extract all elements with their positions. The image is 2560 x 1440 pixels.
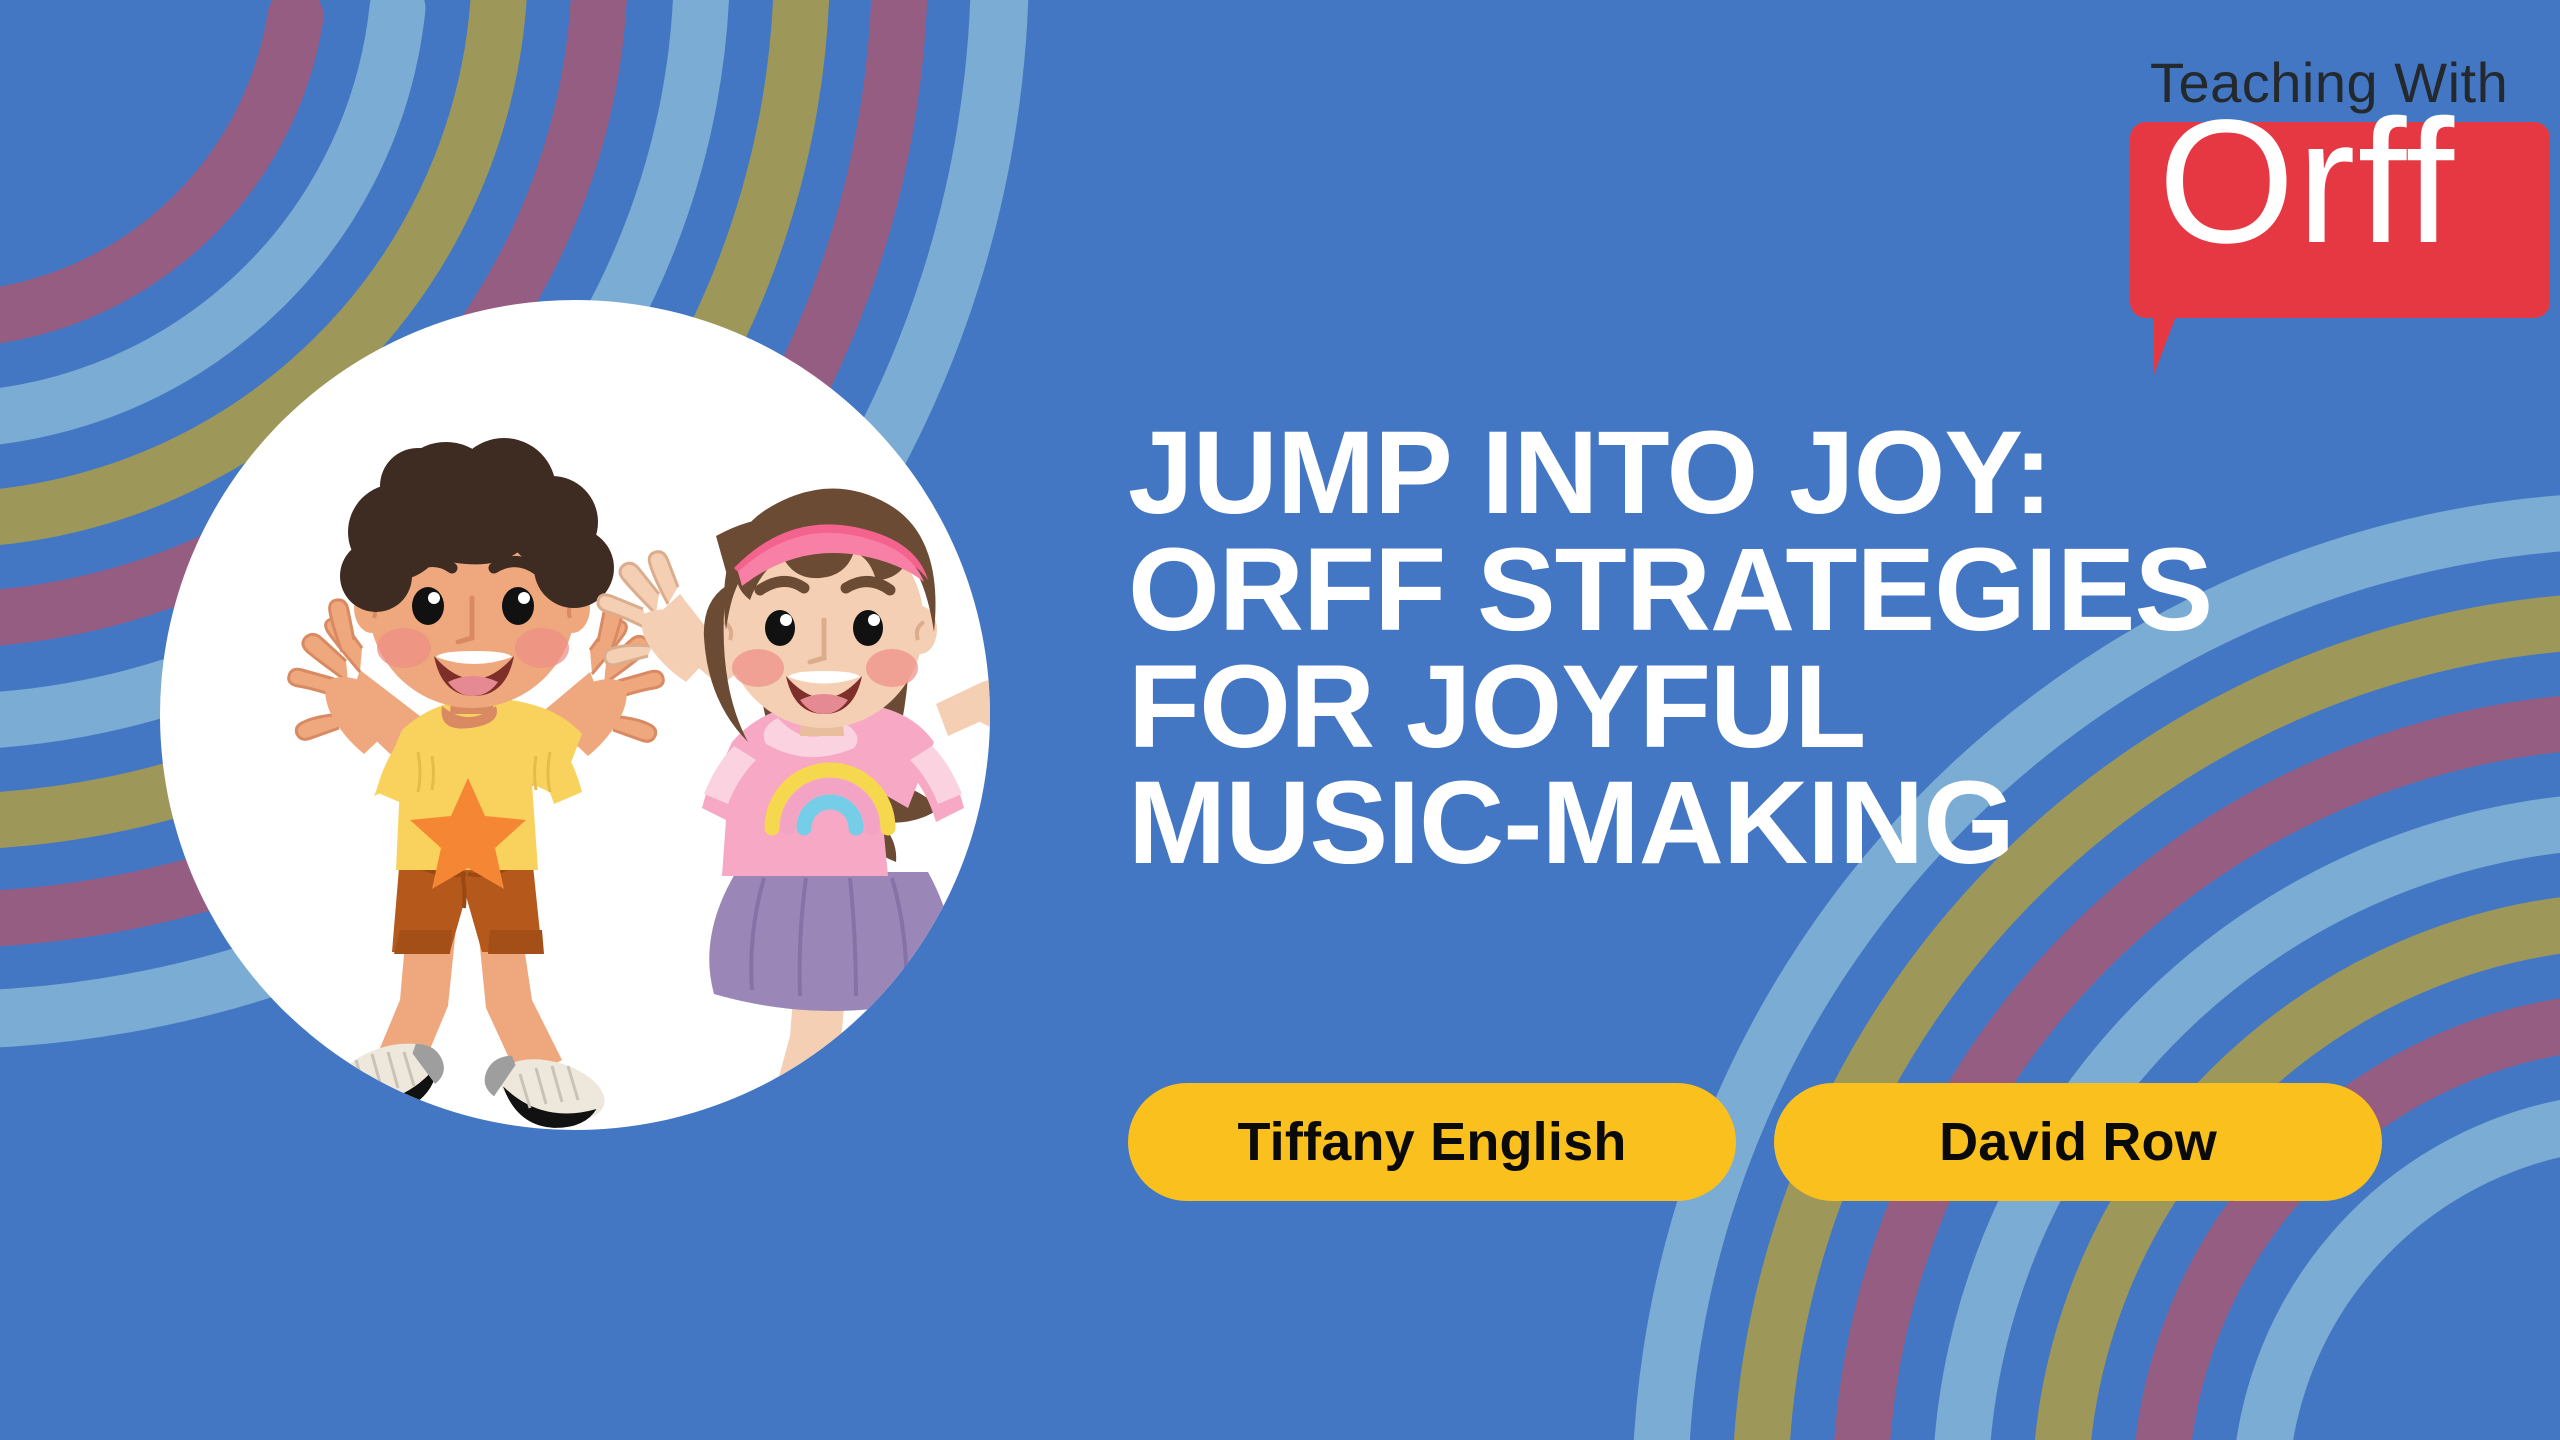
kids-illustration: [160, 300, 990, 1130]
girl-shoe-left: [753, 1089, 844, 1130]
speaker-pill-1[interactable]: Tiffany English: [1128, 1083, 1736, 1201]
page-title: JUMP INTO JOY: ORFF STRATEGIES FOR JOYFU…: [1128, 415, 2468, 882]
speaker-name-1: Tiffany English: [1237, 1111, 1626, 1173]
title-line-4: MUSIC-MAKING: [1128, 765, 2468, 882]
speaker-list: Tiffany English David Row: [1128, 1083, 2382, 1201]
speaker-name-2: David Row: [1939, 1111, 2217, 1173]
boy-figure: [289, 438, 664, 1130]
girl-figure: [598, 488, 990, 1130]
speech-bubble-icon: Orff: [2130, 122, 2550, 318]
title-line-2: ORFF STRATEGIES: [1128, 532, 2468, 649]
title-line-3: FOR JOYFUL: [1128, 649, 2468, 766]
speaker-pill-2[interactable]: David Row: [1774, 1083, 2382, 1201]
girl-shoe-right: [926, 1005, 990, 1063]
title-line-1: JUMP INTO JOY:: [1128, 415, 2468, 532]
speech-bubble-tail-icon: [2154, 316, 2202, 374]
brand-logo[interactable]: Teaching With Orff: [2130, 18, 2560, 348]
logo-wordmark: Orff: [2158, 94, 2456, 270]
boy-shoe-right: [480, 1048, 611, 1130]
promo-slide: JUMP INTO JOY: ORFF STRATEGIES FOR JOYFU…: [0, 0, 2560, 1440]
